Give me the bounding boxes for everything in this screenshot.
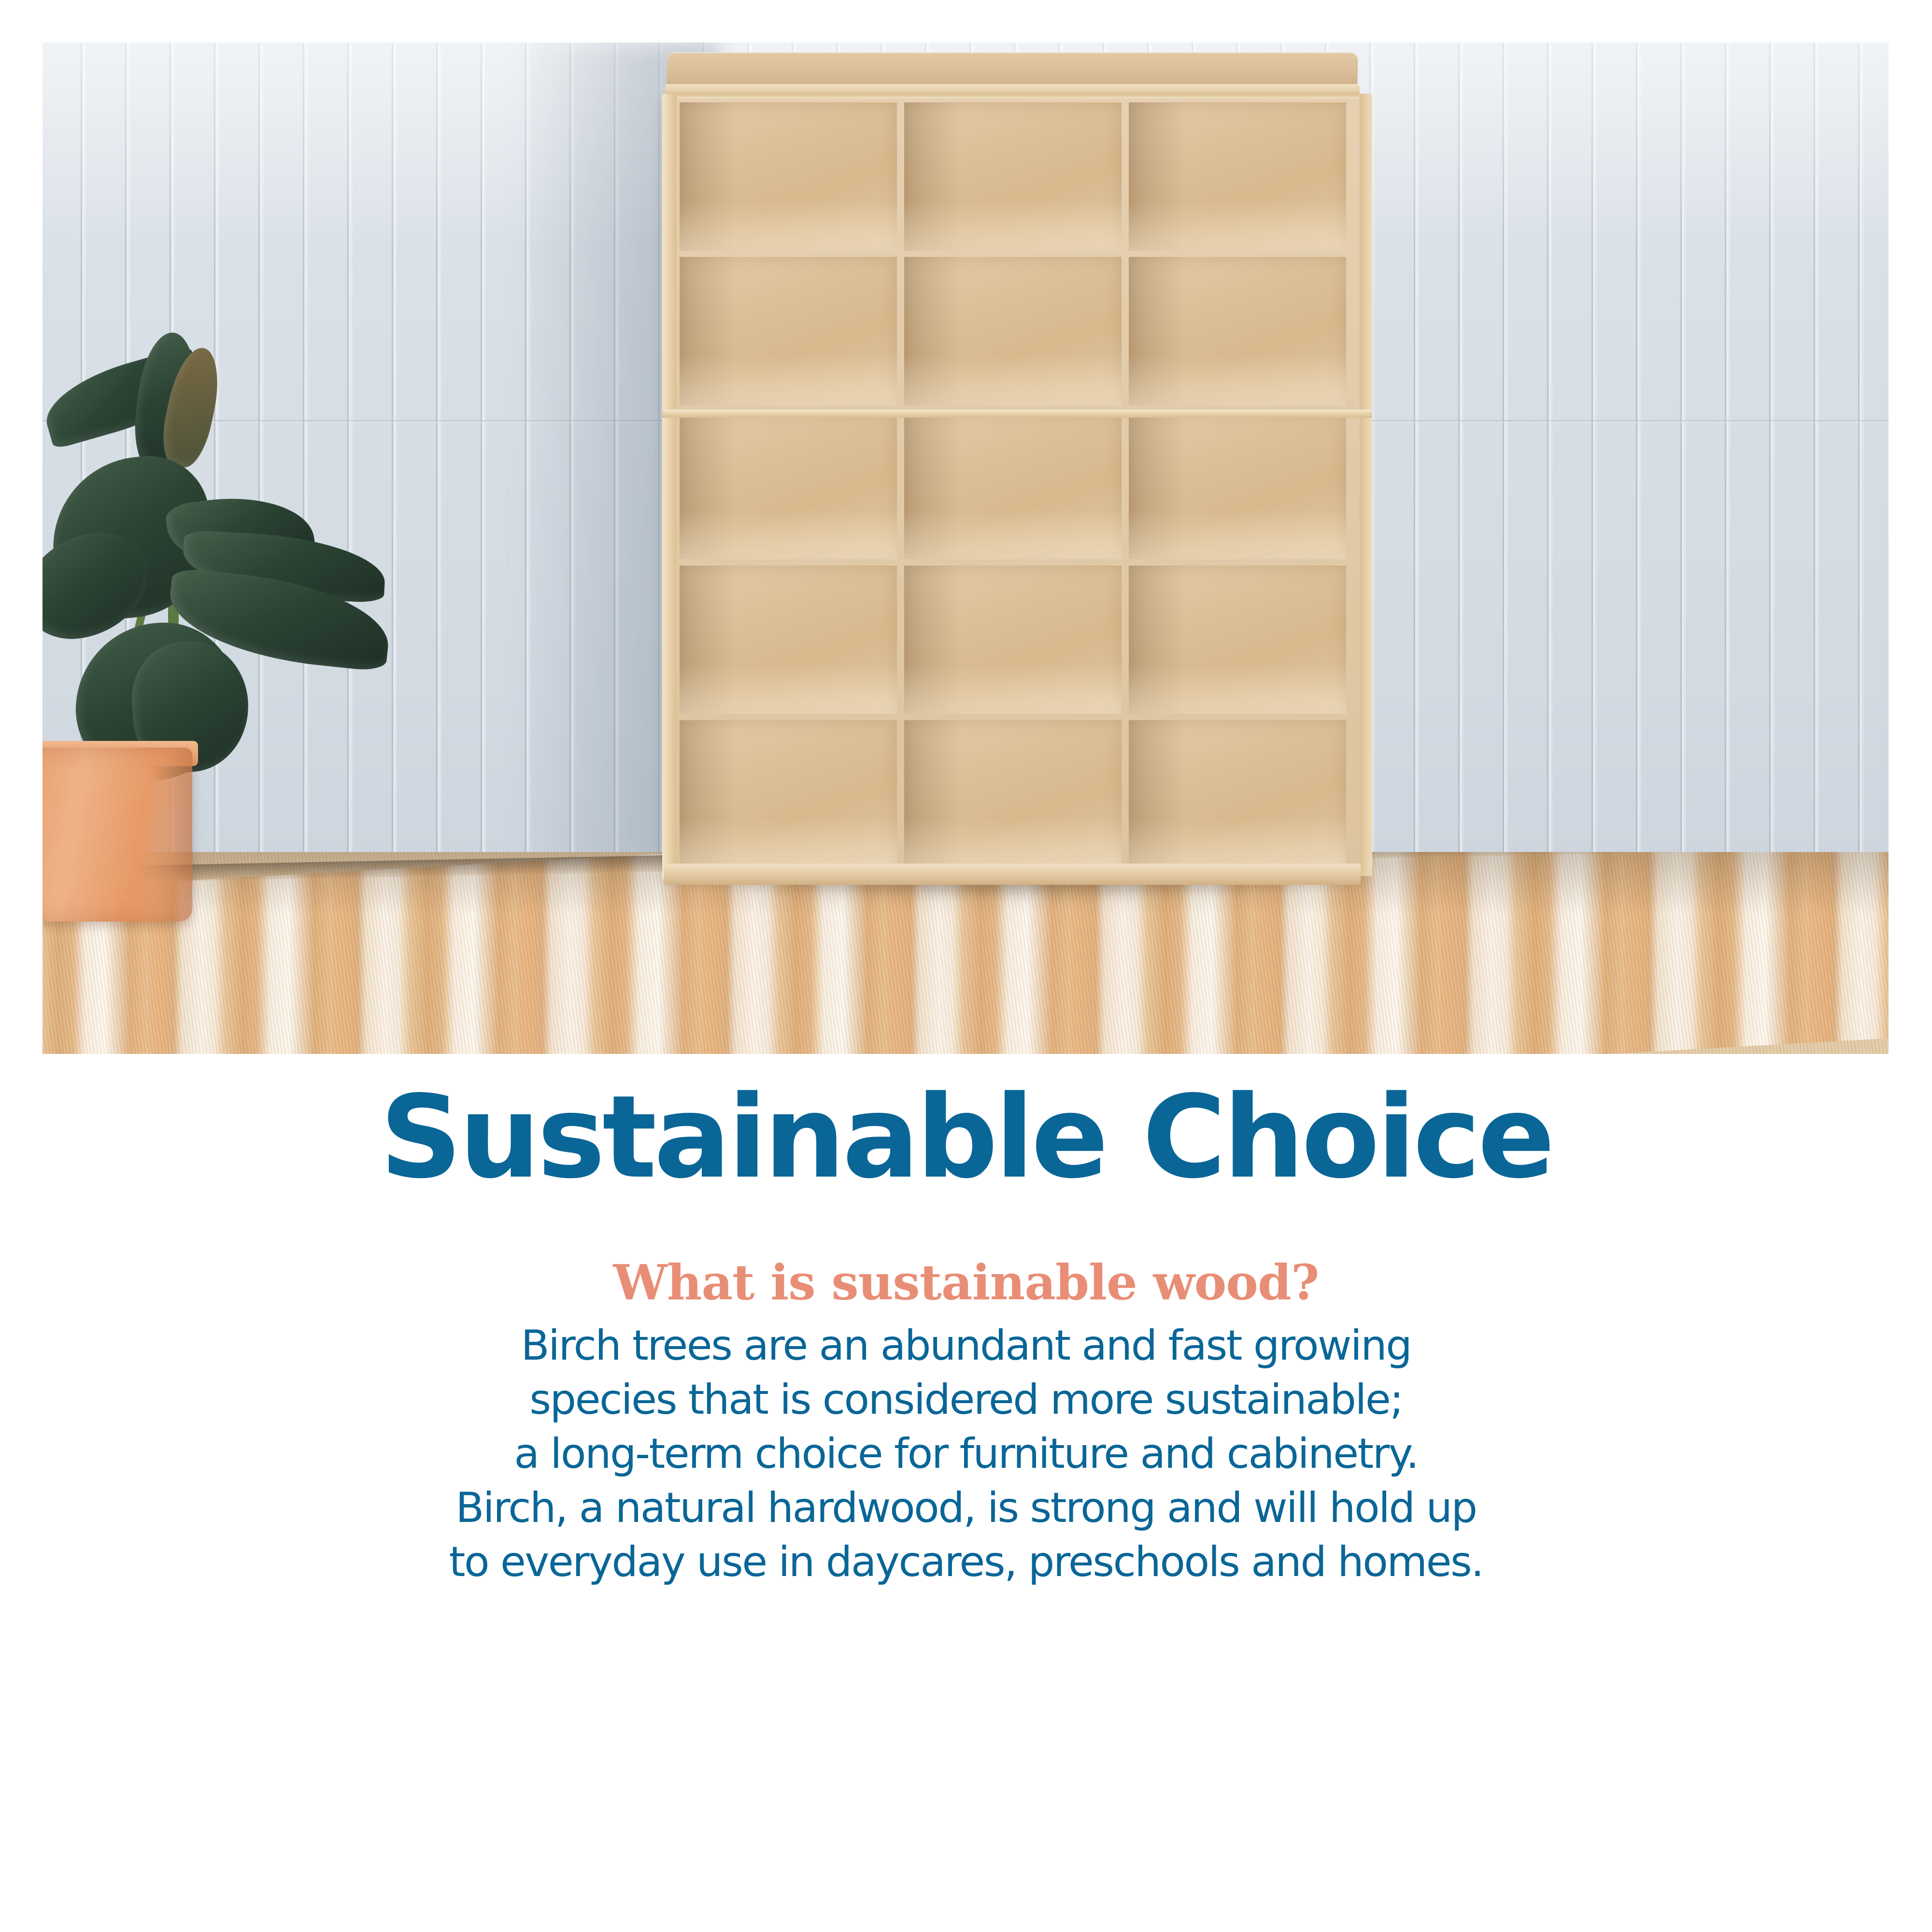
shelf-top-edge <box>665 84 1360 99</box>
cubby-row <box>680 405 1346 560</box>
cubby-cell <box>1129 720 1346 868</box>
shelf-midrail <box>662 410 1372 418</box>
room-scene-photo <box>43 43 1889 1054</box>
body-line: Birch trees are an abundant and fast gro… <box>0 1319 1932 1373</box>
rubber-plant <box>43 352 332 922</box>
body-copy: Birch trees are an abundant and fast gro… <box>0 1319 1932 1589</box>
shelf-base-rail <box>664 864 1361 885</box>
cubby-cell <box>904 412 1122 560</box>
copy-block: Sustainable Choice What is sustainable w… <box>0 1078 1932 1589</box>
cubby-row <box>680 714 1346 868</box>
cubby-row <box>680 559 1346 714</box>
cubby-cell <box>1129 102 1346 251</box>
cubby-cell <box>680 566 897 714</box>
terracotta-pot <box>43 748 192 922</box>
birch-cubby-shelf <box>662 52 1372 907</box>
cubby-cell <box>680 720 897 868</box>
cubby-cell <box>1129 257 1346 405</box>
shelf-right-panel <box>1360 94 1372 876</box>
cubby-cell <box>680 257 897 405</box>
body-line: a long-term choice for furniture and cab… <box>0 1427 1932 1481</box>
cubby-row <box>680 102 1346 251</box>
shelf-left-panel <box>662 94 677 880</box>
product-info-card: Sustainable Choice What is sustainable w… <box>0 0 1932 1932</box>
cubby-cell <box>904 102 1122 251</box>
cubby-cell <box>680 102 897 251</box>
cubby-cell <box>680 412 897 560</box>
cubby-grid <box>680 102 1346 868</box>
cubby-row <box>680 251 1346 405</box>
body-line: Birch, a natural hardwood, is strong and… <box>0 1481 1932 1535</box>
page-title: Sustainable Choice <box>0 1078 1932 1196</box>
cubby-cell <box>904 720 1122 868</box>
section-question: What is sustainable wood? <box>0 1253 1932 1311</box>
cubby-cell <box>904 257 1122 405</box>
body-line: species that is considered more sustaina… <box>0 1373 1932 1427</box>
body-line: to everyday use in daycares, preschools … <box>0 1535 1932 1590</box>
cubby-cell <box>904 566 1122 714</box>
cubby-cell <box>1129 412 1346 560</box>
cubby-cell <box>1129 566 1346 714</box>
